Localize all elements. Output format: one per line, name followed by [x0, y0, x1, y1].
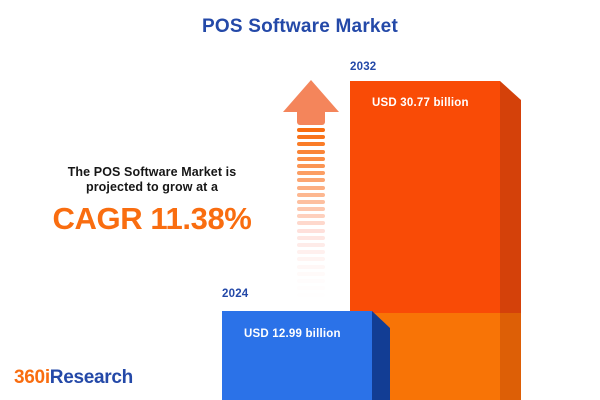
arrow-segment-1 [297, 135, 325, 139]
arrow-segment-23 [297, 293, 325, 297]
arrow-up-icon [283, 80, 339, 112]
bar-value-2024: USD 12.99 billion [244, 328, 341, 340]
logo-part-research: Research [50, 367, 133, 388]
arrow-segment-12 [297, 214, 325, 218]
bar-value-2032: USD 30.77 billion [372, 97, 469, 109]
arrow-segment-16 [297, 243, 325, 247]
bar-2032-side-face-lower [500, 313, 521, 400]
arrow-neck [297, 111, 325, 125]
growth-arrow [283, 80, 339, 295]
statement-line-2: projected to grow at a [28, 180, 276, 195]
statement-line-1: The POS Software Market is [28, 165, 276, 180]
logo-part-360: 360 [14, 367, 45, 388]
brand-logo[interactable]: 360iResearch [14, 367, 133, 389]
arrow-segment-19 [297, 265, 325, 269]
arrow-segment-21 [297, 279, 325, 283]
arrow-segment-10 [297, 200, 325, 204]
bar-label-year-2024: 2024 [222, 288, 248, 300]
arrow-segment-20 [297, 272, 325, 276]
arrow-segment-7 [297, 178, 325, 182]
arrow-segment-17 [297, 250, 325, 254]
arrow-segment-6 [297, 171, 325, 175]
arrow-segment-8 [297, 186, 325, 190]
bar-label-year-2032: 2032 [350, 61, 376, 73]
cagr-headline: CAGR 11.38% [28, 202, 276, 236]
arrow-segment-15 [297, 236, 325, 240]
arrow-segment-3 [297, 150, 325, 154]
page-title: POS Software Market [0, 16, 600, 38]
statement-text: The POS Software Market is projected to … [28, 165, 276, 195]
arrow-segment-22 [297, 286, 325, 290]
bar-2024-front-face [222, 311, 372, 400]
arrow-segment-9 [297, 193, 325, 197]
arrow-segment-2 [297, 142, 325, 146]
arrow-segment-0 [297, 128, 325, 132]
arrow-segment-14 [297, 229, 325, 233]
infographic-canvas: POS Software Market 2032 USD 30.77 billi… [0, 0, 600, 400]
arrow-segment-11 [297, 207, 325, 211]
arrow-segment-18 [297, 257, 325, 261]
statement-block: The POS Software Market is projected to … [28, 165, 276, 236]
arrow-segment-4 [297, 157, 325, 161]
arrow-segment-13 [297, 221, 325, 225]
arrow-segment-5 [297, 164, 325, 168]
arrow-segment-stack [297, 128, 325, 301]
